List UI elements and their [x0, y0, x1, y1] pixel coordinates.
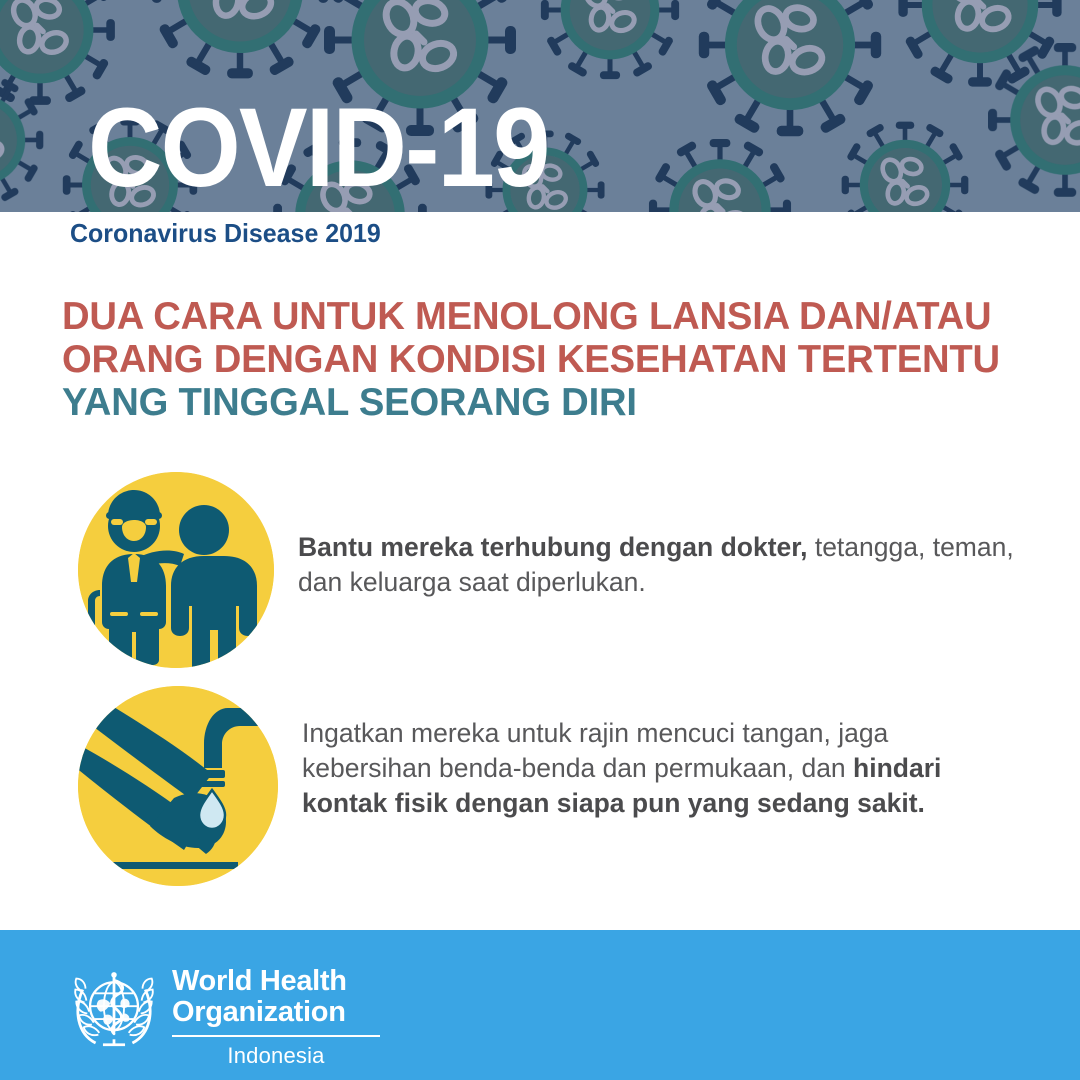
- covid-subtitle: Coronavirus Disease 2019: [70, 218, 381, 249]
- who-emblem-icon: [68, 962, 160, 1054]
- headline-line-2: ORANG DENGAN KONDISI KESEHATAN TERTENTU: [62, 338, 1022, 381]
- handwashing-icon: [78, 686, 278, 886]
- tip-row-1: Bantu mereka terhubung dengan dokter, te…: [78, 472, 1018, 668]
- headline-line-1: DUA CARA UNTUK MENOLONG LANSIA DAN/ATAU: [62, 295, 1022, 338]
- who-logo: World Health Organization Indonesia: [68, 962, 380, 1069]
- handwashing-illustration: [78, 686, 278, 886]
- tip-text-1-bold: Bantu mereka terhubung dengan dokter,: [298, 532, 807, 562]
- poster-root: COVID-19 Coronavirus Disease 2019 DUA CA…: [0, 0, 1080, 1080]
- headline-block: DUA CARA UNTUK MENOLONG LANSIA DAN/ATAU …: [62, 295, 1042, 424]
- tip-text-1: Bantu mereka terhubung dengan dokter, te…: [298, 472, 1018, 600]
- who-name-line-1: World Health: [172, 966, 380, 997]
- who-name-line-2: Organization: [172, 997, 380, 1028]
- elderly-companion-icon: [78, 472, 274, 668]
- who-country-label: Indonesia: [172, 1043, 380, 1069]
- header-banner: COVID-19: [0, 0, 1080, 212]
- who-divider: [172, 1035, 380, 1037]
- headline-line-3: YANG TINGGAL SEORANG DIRI: [62, 381, 1022, 424]
- tip-text-2-regular: Ingatkan mereka untuk rajin mencuci tang…: [302, 718, 888, 783]
- who-wordmark: World Health Organization Indonesia: [172, 962, 380, 1069]
- elderly-companion-illustration: [78, 472, 274, 668]
- tip-row-2: Ingatkan mereka untuk rajin mencuci tang…: [78, 686, 1022, 886]
- tip-text-2: Ingatkan mereka untuk rajin mencuci tang…: [302, 686, 1022, 821]
- covid-wordmark: COVID-19: [88, 92, 549, 204]
